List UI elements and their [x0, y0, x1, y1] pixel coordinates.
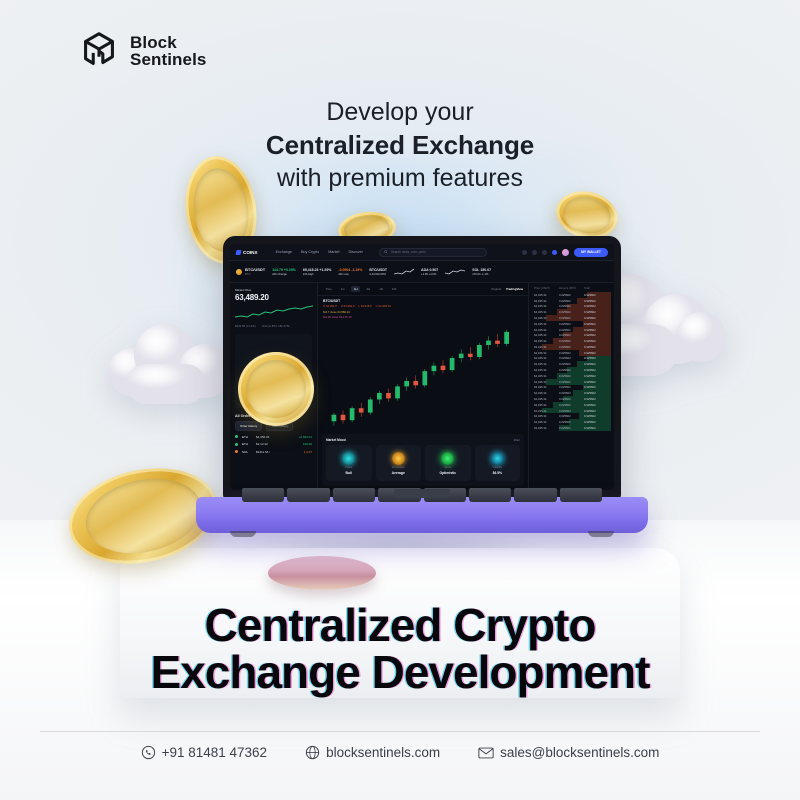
whatsapp-icon	[141, 745, 156, 760]
page-title-line2: Exchange Development	[0, 649, 800, 696]
ob-total: 0.925602	[584, 403, 609, 407]
order-change: 199.00	[303, 442, 312, 446]
footer-contact-bar: +91 81481 47362 blocksentinels.com sales…	[0, 745, 800, 760]
ob-amount: 0.025602	[559, 345, 584, 349]
nav-link-market[interactable]: Market	[328, 250, 339, 254]
order-symbol: ETH	[242, 442, 252, 446]
ticker-stat: 65,418.23 +1.29% 24h High	[303, 268, 332, 276]
ob-amount: 0.025602	[559, 328, 584, 332]
trackpad	[394, 489, 450, 498]
market-mood-title: Market Mood	[326, 438, 346, 442]
mood-filter-button[interactable]: Filter	[514, 438, 520, 442]
candlestick-chart	[323, 321, 523, 430]
market-price-label: Market Price	[235, 288, 312, 292]
ob-price: 64,345.34	[534, 333, 559, 337]
footer-phone-text: +91 81481 47362	[162, 745, 267, 760]
dashboard-logo[interactable]: COINX	[236, 250, 258, 255]
footer-website[interactable]: blocksentinels.com	[305, 745, 440, 760]
mood-card-key: Volatility	[492, 466, 502, 469]
bitcoin-icon	[236, 269, 242, 275]
timeframe-1h[interactable]: 1H	[351, 286, 360, 292]
ob-price: 64,345.34	[534, 403, 559, 407]
ob-amount: 0.025602	[559, 380, 584, 384]
order-value: $2,13.32	[256, 442, 299, 446]
ob-total: 0.925602	[584, 310, 609, 314]
headline-line1: Develop your	[0, 96, 800, 129]
timeframe-1w[interactable]: 1W	[389, 286, 398, 292]
order-value: $2411.54 /	[256, 450, 300, 454]
order-change: +2,943.01	[299, 435, 312, 439]
ob-total: 0.925602	[584, 391, 609, 395]
ob-amount: 0.025602	[559, 304, 584, 308]
order-symbol: ETH	[242, 435, 252, 439]
ob-col-total: Total	[584, 287, 609, 290]
ob-total: 0.925602	[584, 304, 609, 308]
ob-price: 64,345.34	[534, 304, 559, 308]
ob-total: 0.925602	[584, 380, 609, 384]
chart-ma25: MA 25 close 63,176.10	[323, 315, 523, 319]
nav-link-discover[interactable]: Discover	[349, 250, 363, 254]
ob-total: 0.925602	[584, 368, 609, 372]
mood-card-key: Sense	[444, 466, 451, 469]
ob-amount: 0.025602	[559, 414, 584, 418]
ob-amount: 0.025602	[559, 293, 584, 297]
avatar[interactable]	[562, 249, 569, 256]
ticker-stat: BTC/USDT 2,44,510.00%	[369, 268, 387, 276]
ob-total: 0.925602	[584, 374, 609, 378]
ob-price: 64,345.34	[534, 322, 559, 326]
mood-card-volatility[interactable]: Volatility 36.5%	[475, 445, 521, 481]
globe-icon	[305, 745, 320, 760]
ob-amount: 0.025602	[559, 356, 584, 360]
headset-icon[interactable]	[532, 250, 537, 255]
ob-price: 64,345.34	[534, 345, 559, 349]
ob-amount: 0.025602	[559, 310, 584, 314]
timeframe-1m[interactable]: 1m	[338, 286, 347, 292]
ob-amount: 0.025602	[559, 420, 584, 424]
search-input[interactable]: Search news, coin, pairs	[379, 248, 487, 257]
status-dot-icon	[235, 443, 238, 446]
logo-glyph-icon	[235, 250, 241, 255]
ob-amount: 0.025602	[559, 391, 584, 395]
dashboard-navbar: COINX Exchange Buy Crypto Market Discove…	[230, 244, 614, 261]
page-title: Centralized Crypto Exchange Development	[0, 602, 800, 696]
market-ticker-bar: BTC/USDT BTC 144.79 +0.05% 24h Change 65…	[230, 261, 614, 283]
smiley-icon	[441, 452, 454, 465]
ticker-sparkline	[445, 268, 465, 276]
order-row[interactable]: SOL $2411.54 / 1,4.07	[235, 450, 312, 454]
ob-price: 64,345.34	[534, 339, 559, 343]
ob-amount: 0.025602	[559, 403, 584, 407]
bars-icon	[491, 452, 504, 465]
ob-total: 0.925602	[584, 293, 609, 297]
key	[560, 488, 602, 502]
ticker-stat-value: 65,418.23 +1.29%	[303, 268, 332, 272]
ticker-stat: -0.0994 -1.19% 24h Low	[338, 268, 362, 276]
ob-amount: 0.025602	[559, 397, 584, 401]
mood-card-value: Average	[392, 471, 405, 475]
market-mood-header: Market Mood Filter	[326, 438, 520, 442]
order-row[interactable]: ETH $4,356.04 +2,943.01	[235, 435, 312, 439]
source-tradingview[interactable]: TradingView	[506, 287, 523, 291]
timeframe-1d[interactable]: 1D	[377, 286, 386, 292]
ob-price: 64,345.34	[534, 414, 559, 418]
status-dot-icon	[235, 450, 238, 453]
ob-amount: 0.025602	[559, 299, 584, 303]
rose-disc	[268, 556, 376, 590]
mood-cards: Power Bull Momentum Average Sense	[326, 445, 520, 481]
ticker-stat: ADA 0.507 +1.90 +4.0%	[421, 268, 438, 276]
bitcoin-icon	[392, 452, 405, 465]
ob-total: 0.925602	[584, 345, 609, 349]
chart-toolbar: Time 1m 1H 4H 1D 1W Original TradingView	[318, 283, 528, 296]
mood-card-power[interactable]: Power Bull	[326, 445, 372, 481]
market-volume-row: $634.85 (0.12%) Volume BTC 182,275k	[235, 324, 312, 328]
search-placeholder: Search news, coin, pairs	[391, 250, 426, 254]
ob-price: 64,345.34	[534, 391, 559, 395]
ob-amount: 0.025602	[559, 374, 584, 378]
ob-amount: 0.025602	[559, 333, 584, 337]
ob-col-amount: Amount (BTC)	[559, 287, 584, 290]
headline-line2: Centralized Exchange	[0, 129, 800, 163]
flash-icon[interactable]	[542, 250, 547, 255]
chart-ohlc-header: BTC/USDT O 64,291.8 H 64,562.0 L 63,918.…	[318, 296, 528, 319]
order-book-buys: 64,345.340.0256020.92560264,345.340.0256…	[532, 356, 611, 431]
ob-total: 0.925602	[584, 339, 609, 343]
ob-total: 0.925602	[584, 385, 609, 389]
ticker-stat-label: 2,44,510.00%	[369, 273, 387, 276]
ob-price: 64,345.34	[534, 380, 559, 384]
ticker-stat-label: 170.64 -1.1%	[472, 273, 491, 276]
brand-logo: Block Sentinels	[76, 28, 206, 74]
ob-total: 0.925602	[584, 397, 609, 401]
footer-email[interactable]: sales@blocksentinels.com	[478, 745, 659, 760]
market-sparkline	[235, 304, 313, 320]
laptop-foot	[230, 531, 256, 537]
envelope-icon	[478, 746, 494, 760]
grid-icon[interactable]	[552, 250, 557, 255]
ob-total: 0.925602	[584, 322, 609, 326]
ob-total: 0.925602	[584, 333, 609, 337]
timeframe-4h[interactable]: 4H	[364, 286, 373, 292]
footer-email-text: sales@blocksentinels.com	[500, 745, 659, 760]
market-price-value: 63,489.20	[235, 293, 312, 302]
mood-card-key: Power	[345, 466, 352, 469]
source-original[interactable]: Original	[491, 287, 501, 291]
order-book-sells: 64,345.340.0256020.92560264,345.340.0256…	[532, 292, 611, 356]
ticker-pair-sub: BTC	[245, 272, 265, 276]
ticker-stat-label: 24h Change	[272, 273, 296, 276]
ob-price: 64,345.34	[534, 362, 559, 366]
ob-total: 0.925602	[584, 409, 609, 413]
nav-link-buy-crypto[interactable]: Buy Crypto	[301, 250, 319, 254]
key	[333, 488, 375, 502]
ob-amount: 0.025602	[559, 322, 584, 326]
ob-amount: 0.025602	[559, 368, 584, 372]
order-row[interactable]: ETH $2,13.32 199.00	[235, 442, 312, 446]
brand-name-line2: Sentinels	[130, 51, 206, 68]
my-wallet-button[interactable]: MY WALLET	[574, 248, 608, 257]
order-change: 1,4.07	[304, 450, 312, 454]
chart-ma7: MA 7 close 64,580.22	[323, 310, 523, 314]
cube-outline-icon	[76, 28, 122, 74]
ob-amount: 0.025602	[559, 426, 584, 430]
ob-total: 0.925602	[584, 426, 609, 430]
ob-price: 64,345.34	[534, 299, 559, 303]
ticker-stat-value: BTC/USDT	[369, 268, 387, 272]
ob-col-price: Price (USDT)	[534, 287, 559, 290]
ticker-stat-value: ADA 0.507	[421, 268, 438, 272]
nav-link-exchange[interactable]: Exchange	[276, 250, 292, 254]
key	[514, 488, 556, 502]
mood-card-sense[interactable]: Sense Optimistic	[425, 445, 471, 481]
market-change: $634.85 (0.12%)	[235, 324, 256, 328]
ticker-stat-value: SOL 150.07	[472, 268, 491, 272]
ticker-stat-value: -0.0994 -1.19%	[338, 268, 362, 272]
footer-divider	[40, 731, 760, 732]
market-volume: Volume BTC 182,275k	[262, 324, 290, 328]
mood-card-value: 36.5%	[492, 471, 502, 475]
mood-card-key: Momentum	[392, 466, 405, 469]
ohlc-low: L 63,918.0	[359, 304, 372, 308]
ob-amount: 0.025602	[559, 351, 584, 355]
ohlc-open: O 64,291.8	[323, 304, 337, 308]
key	[469, 488, 511, 502]
chart-panel: Time 1m 1H 4H 1D 1W Original TradingView…	[318, 283, 528, 490]
ob-price: 64,345.34	[534, 426, 559, 430]
ob-amount: 0.025602	[559, 362, 584, 366]
ob-price: 64,345.34	[534, 351, 559, 355]
order-value: $4,356.04	[256, 435, 295, 439]
key	[242, 488, 284, 502]
chart-pair: BTC/USDT	[323, 299, 340, 303]
chart-ohlc-values: O 64,291.8 H 64,562.0 L 63,918.0 C 64,34…	[323, 304, 523, 308]
headline: Develop your Centralized Exchange with p…	[0, 96, 800, 195]
order-book-row[interactable]: 64,345.340.0256020.925602	[532, 425, 611, 431]
ob-price: 64,345.34	[534, 385, 559, 389]
ob-price: 64,345.34	[534, 368, 559, 372]
ob-total: 0.925602	[584, 316, 609, 320]
ob-total: 0.925602	[584, 356, 609, 360]
ob-price: 64,345.34	[534, 374, 559, 378]
order-book-panel: Price (USDT) Amount (BTC) Total 64,345.3…	[528, 283, 614, 490]
ob-price: 64,345.34	[534, 316, 559, 320]
ob-total: 0.925602	[584, 328, 609, 332]
brand-name-line1: Block	[130, 34, 206, 51]
timeframe-time[interactable]: Time	[323, 286, 334, 292]
ohlc-close: C 64,345.34	[376, 304, 391, 308]
status-dot-icon	[235, 435, 238, 438]
dashboard-logo-text: COINX	[243, 250, 258, 255]
laptop-base	[196, 497, 648, 533]
chart-source-toggle: Original TradingView	[491, 287, 523, 291]
ob-total: 0.925602	[584, 362, 609, 366]
ob-price: 64,345.34	[534, 356, 559, 360]
dashboard-nav-icons: MY WALLET	[522, 248, 608, 257]
ticker-stat-label: 24h High	[303, 273, 332, 276]
ticker-sparkline	[394, 268, 414, 276]
order-symbol: SOL	[242, 450, 252, 454]
page-title-line1: Centralized Crypto	[0, 602, 800, 649]
notification-icon[interactable]	[522, 250, 527, 255]
mood-card-value: Optimistic	[439, 471, 456, 475]
ob-price: 64,345.34	[534, 328, 559, 332]
ob-price: 64,345.34	[534, 409, 559, 413]
ob-price: 64,345.34	[534, 293, 559, 297]
mood-card-momentum[interactable]: Momentum Average	[376, 445, 422, 481]
ticker-pair[interactable]: BTC/USDT BTC	[236, 267, 265, 276]
ob-total: 0.925602	[584, 351, 609, 355]
mood-card-value: Bull	[346, 471, 352, 475]
ob-total: 0.925602	[584, 299, 609, 303]
footer-phone[interactable]: +91 81481 47362	[141, 745, 267, 760]
ticker-stat: SOL 150.07 170.64 -1.1%	[472, 268, 491, 276]
market-mood-panel: Market Mood Filter Power Bull Mom	[322, 434, 524, 486]
ob-amount: 0.025602	[559, 339, 584, 343]
ob-total: 0.925602	[584, 420, 609, 424]
ticker-stat-label: +1.90 +4.0%	[421, 273, 438, 276]
ticker-stat-label: 24h Low	[338, 273, 362, 276]
ob-amount: 0.025602	[559, 409, 584, 413]
ob-price: 64,345.34	[534, 397, 559, 401]
ob-total: 0.925602	[584, 414, 609, 418]
laptop-foot	[588, 531, 614, 537]
ohlc-high: H 64,562.0	[341, 304, 355, 308]
ob-amount: 0.025602	[559, 385, 584, 389]
ob-price: 64,345.34	[534, 310, 559, 314]
dashboard-nav-links: Exchange Buy Crypto Market Discover	[276, 250, 363, 254]
footer-website-text: blocksentinels.com	[326, 745, 440, 760]
rocket-icon	[342, 452, 355, 465]
ticker-stat-value: 144.79 +0.05%	[272, 268, 296, 272]
search-icon	[384, 250, 388, 254]
key	[287, 488, 329, 502]
ob-price: 64,345.34	[534, 420, 559, 424]
ob-amount: 0.025602	[559, 316, 584, 320]
coin-on-screen	[238, 352, 314, 426]
headline-line3: with premium features	[0, 162, 800, 195]
ticker-stat: 144.79 +0.05% 24h Change	[272, 268, 296, 276]
